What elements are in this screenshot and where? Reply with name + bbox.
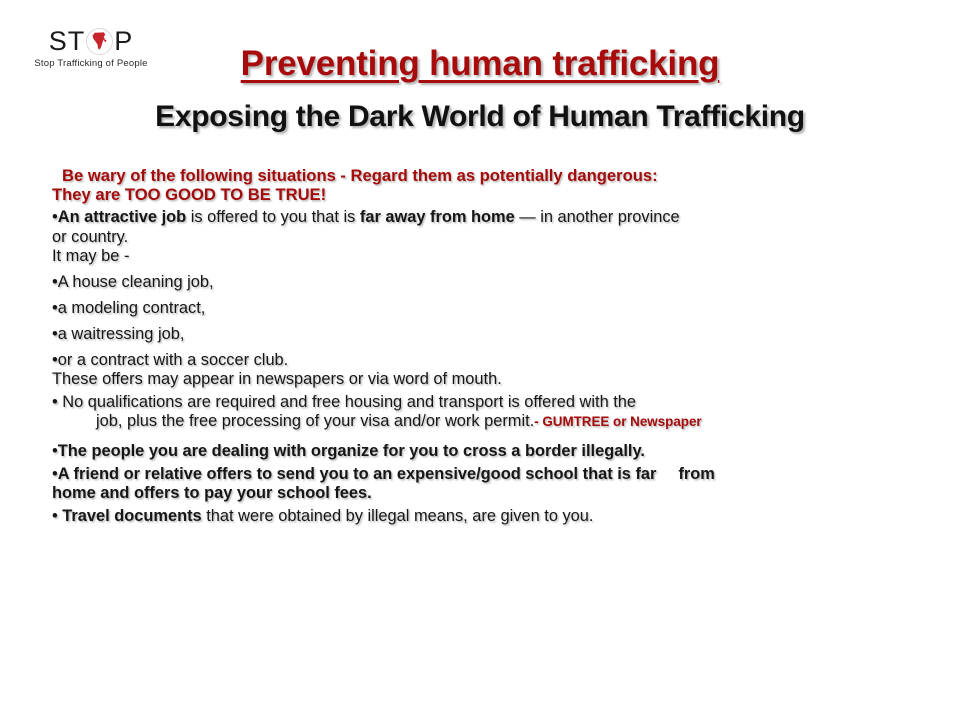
bullet-friend-relative: •A friend or relative offers to send you…	[52, 465, 914, 484]
list-item-label: A house cleaning job,	[58, 273, 214, 291]
bold-attractive-job: An attractive job	[58, 208, 186, 226]
text-friend-relative-from: from	[678, 465, 714, 483]
bullet-no-qualifications-cont: job, plus the free processing of your vi…	[52, 412, 914, 431]
text-obtained-illegally: that were obtained by illegal means, are…	[202, 507, 594, 525]
bullet-attractive-job: •An attractive job is offered to you tha…	[52, 208, 914, 227]
bullet-cross-border: •The people you are dealing with organiz…	[52, 442, 914, 461]
text-offers-may-appear: These offers may appear in newspapers or…	[52, 370, 914, 389]
warning-line-1: Be wary of the following situations - Re…	[52, 166, 914, 185]
text-friend-relative-1: A friend or relative offers to send you …	[58, 465, 657, 483]
slide-body: Be wary of the following situations - Re…	[52, 166, 914, 526]
bold-travel-documents: Travel documents	[58, 507, 202, 525]
list-item: •or a contract with a soccer club.	[52, 351, 914, 370]
text-is-offered: is offered to you that is	[186, 208, 360, 226]
text-another-province: — in another province	[515, 208, 680, 226]
bullet-no-qualifications: • No qualifications are required and fre…	[52, 393, 914, 412]
text-or-country: or country.	[52, 228, 914, 247]
list-item-label: a modeling contract,	[58, 299, 206, 317]
text-friend-relative-2: home and offers to pay your school fees.	[52, 484, 914, 503]
text-cross-border: The people you are dealing with organize…	[58, 442, 645, 460]
warning-line-2: They are TOO GOOD TO BE TRUE!	[52, 185, 914, 204]
text-it-may-be: It may be -	[52, 247, 914, 266]
page-subtitle: Exposing the Dark World of Human Traffic…	[0, 100, 960, 134]
list-item-label: a waitressing job,	[58, 325, 185, 343]
list-item-label: or a contract with a soccer club.	[58, 351, 288, 369]
bullet-travel-documents: • Travel documents that were obtained by…	[52, 507, 914, 526]
text-job-plus-visa: job, plus the free processing of your vi…	[96, 412, 534, 430]
list-item: •a modeling contract,	[52, 299, 914, 318]
list-item: •A house cleaning job,	[52, 273, 914, 292]
source-note-gumtree: - GUMTREE or Newspaper	[534, 414, 701, 429]
text-no-qualifications: No qualifications are required and free …	[58, 393, 636, 411]
list-item: •a waitressing job,	[52, 325, 914, 344]
page-title: Preventing human trafficking	[0, 44, 960, 84]
bold-far-away-from-home: far away from home	[360, 208, 515, 226]
